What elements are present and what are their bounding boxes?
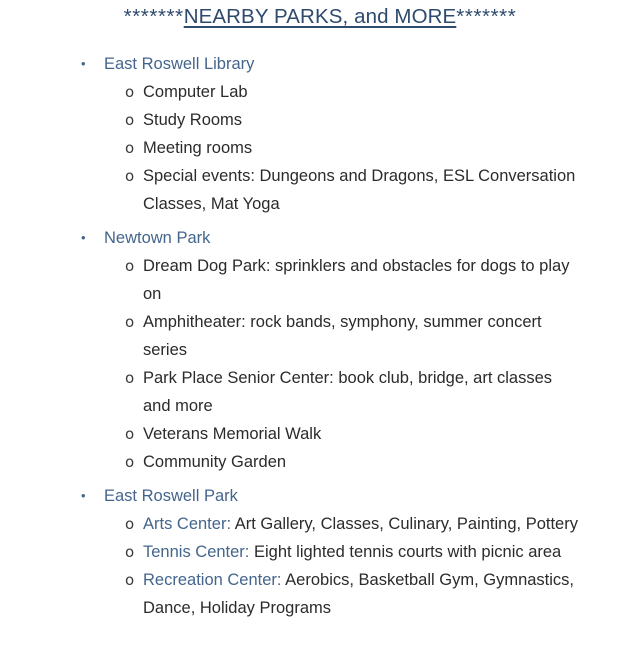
list-item: oPark Place Senior Center: book club, br… xyxy=(0,364,640,420)
section-heading-label: Newtown Park xyxy=(104,229,210,247)
outline-section-heading: •East Roswell Library xyxy=(0,50,640,78)
list-item-text: Veterans Memorial Walk xyxy=(143,425,321,443)
sub-bullet-icon: o xyxy=(125,420,134,448)
list-item-text: Eight lighted tennis courts with picnic … xyxy=(249,543,561,561)
list-item: oStudy Rooms xyxy=(0,106,640,134)
sub-bullet-icon: o xyxy=(125,448,134,476)
list-item-text: Community Garden xyxy=(143,453,286,471)
sub-bullet-icon: o xyxy=(125,538,134,566)
list-item-text: Park Place Senior Center: book club, bri… xyxy=(143,369,552,415)
sub-bullet-icon: o xyxy=(125,252,134,280)
title-stars-leading: ******* xyxy=(124,5,184,28)
section-heading-label: East Roswell Park xyxy=(104,487,238,505)
outline-section-heading: •East Roswell Park xyxy=(0,482,640,510)
sub-bullet-icon: o xyxy=(125,106,134,134)
sub-bullet-icon: o xyxy=(125,364,134,392)
title-underlined-text: NEARBY PARKS, and MORE xyxy=(184,5,457,28)
sub-bullet-icon: o xyxy=(125,566,134,594)
sub-bullet-icon: o xyxy=(125,134,134,162)
title-stars-trailing: ******* xyxy=(456,5,516,28)
list-item-text: Computer Lab xyxy=(143,83,248,101)
list-item: oArts Center: Art Gallery, Classes, Culi… xyxy=(0,510,640,538)
sub-bullet-icon: o xyxy=(125,78,134,106)
list-item: oVeterans Memorial Walk xyxy=(0,420,640,448)
list-item-text: Art Gallery, Classes, Culinary, Painting… xyxy=(231,515,578,533)
list-item: oComputer Lab xyxy=(0,78,640,106)
outline-sublist: oArts Center: Art Gallery, Classes, Culi… xyxy=(0,510,640,622)
list-item-lead-label: Tennis Center: xyxy=(143,543,249,561)
list-item: oAmphitheater: rock bands, symphony, sum… xyxy=(0,308,640,364)
document-page: *******NEARBY PARKS, and MORE******* •Ea… xyxy=(0,0,640,671)
list-item: oMeeting rooms xyxy=(0,134,640,162)
bullet-icon: • xyxy=(81,224,86,252)
sub-bullet-icon: o xyxy=(125,308,134,336)
outline-section-heading: •Newtown Park xyxy=(0,224,640,252)
list-item: oSpecial events: Dungeons and Dragons, E… xyxy=(0,162,640,218)
list-item: oRecreation Center: Aerobics, Basketball… xyxy=(0,566,640,622)
bullet-icon: • xyxy=(81,50,86,78)
list-item: oDream Dog Park: sprinklers and obstacle… xyxy=(0,252,640,308)
outline-list: •East Roswell LibraryoComputer LaboStudy… xyxy=(0,50,640,622)
list-item-lead-label: Recreation Center: xyxy=(143,571,282,589)
outline-sublist: oDream Dog Park: sprinklers and obstacle… xyxy=(0,252,640,476)
list-item-text: Amphitheater: rock bands, symphony, summ… xyxy=(143,313,542,359)
outline-sublist: oComputer LaboStudy RoomsoMeeting roomso… xyxy=(0,78,640,218)
list-item: oCommunity Garden xyxy=(0,448,640,476)
list-item: oTennis Center: Eight lighted tennis cou… xyxy=(0,538,640,566)
sub-bullet-icon: o xyxy=(125,510,134,538)
list-item-text: Meeting rooms xyxy=(143,139,252,157)
list-item-text: Special events: Dungeons and Dragons, ES… xyxy=(143,167,575,213)
sub-bullet-icon: o xyxy=(125,162,134,190)
page-title: *******NEARBY PARKS, and MORE******* xyxy=(0,0,640,31)
list-item-text: Dream Dog Park: sprinklers and obstacles… xyxy=(143,257,569,303)
section-heading-label: East Roswell Library xyxy=(104,55,254,73)
list-item-text: Study Rooms xyxy=(143,111,242,129)
list-item-lead-label: Arts Center: xyxy=(143,515,231,533)
bullet-icon: • xyxy=(81,482,86,510)
